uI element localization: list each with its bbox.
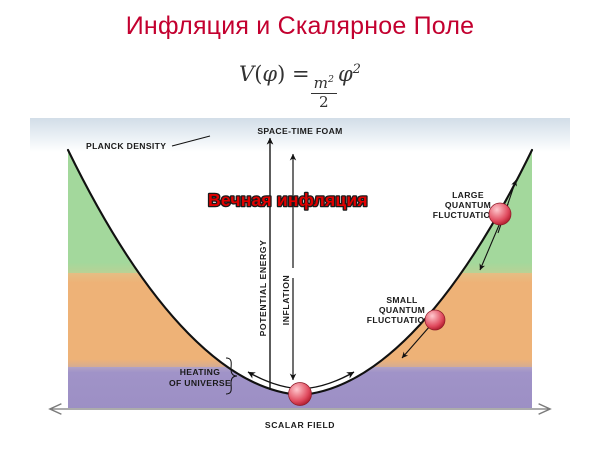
page-title: Инфляция и Скалярное Поле bbox=[0, 12, 600, 41]
formula-denominator: 2 bbox=[316, 94, 332, 111]
label-potential-energy: POTENTIAL ENERGY bbox=[258, 240, 268, 337]
potential-formula: V(φ) =m22φ2 bbox=[0, 62, 600, 111]
vertex-ball bbox=[289, 383, 312, 406]
formula-phi: φ bbox=[338, 62, 353, 86]
formula-numerator-exponent: 2 bbox=[328, 74, 334, 85]
small-fluctuation-ball bbox=[425, 310, 445, 330]
label-heating-of-universe-line1: HEATING bbox=[180, 367, 220, 377]
label-space-time-foam: SPACE-TIME FOAM bbox=[257, 126, 342, 136]
label-planck-density: PLANCK DENSITY bbox=[86, 141, 166, 151]
label-inflation: INFLATION bbox=[281, 275, 291, 326]
formula-paren-close: ) bbox=[277, 62, 285, 86]
label-small-quantum-fluctuations-line2: QUANTUM bbox=[379, 305, 425, 315]
slide-canvas: Инфляция и Скалярное Поле V(φ) =m22φ2 bbox=[0, 0, 600, 450]
formula-arg-phi: φ bbox=[262, 62, 277, 86]
formula-fraction: m22 bbox=[311, 75, 337, 111]
formula-function-V: V bbox=[239, 62, 254, 86]
overlay-eternal-inflation: Вечная инфляция bbox=[208, 190, 368, 210]
label-large-quantum-fluctuations-line2: QUANTUM bbox=[445, 200, 491, 210]
label-heating-of-universe-line2: OF UNIVERSE bbox=[169, 378, 231, 388]
label-small-quantum-fluctuations-line1: SMALL bbox=[386, 295, 417, 305]
label-large-quantum-fluctuations-line1: LARGE bbox=[452, 190, 484, 200]
inflation-orange-band bbox=[30, 273, 570, 371]
formula-numerator: m2 bbox=[311, 75, 337, 94]
inflation-potential-diagram: SPACE-TIME FOAM PLANCK DENSITY POTENTIAL… bbox=[30, 118, 570, 440]
label-scalar-field: SCALAR FIELD bbox=[265, 420, 335, 430]
formula-phi-exponent: 2 bbox=[353, 62, 361, 77]
formula-equals: = bbox=[292, 62, 310, 86]
large-fluctuation-ball bbox=[489, 203, 511, 225]
